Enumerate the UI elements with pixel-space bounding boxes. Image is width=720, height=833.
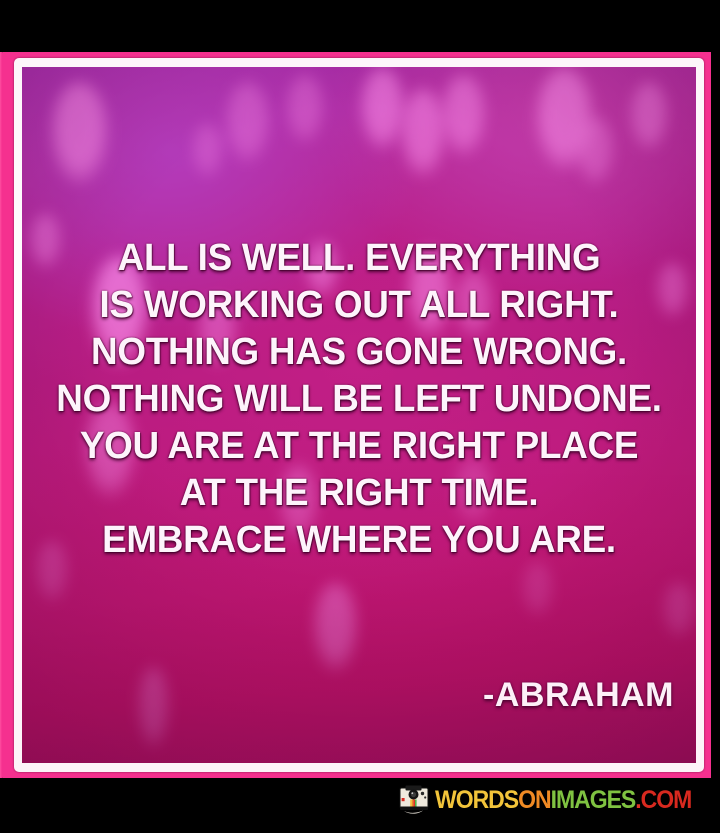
frame-left-edge	[0, 52, 2, 778]
white-mat-border: ALL IS WELL. EVERYTHING IS WORKING OUT A…	[14, 58, 704, 772]
watermark-text: WORDSONIMAGES.COM	[435, 788, 691, 813]
quote-attribution: -ABRAHAM	[483, 676, 674, 715]
screenshot-canvas: ALL IS WELL. EVERYTHING IS WORKING OUT A…	[0, 0, 720, 833]
watermark-segment: ON	[519, 786, 551, 814]
watermark-segment: IMAGES	[551, 786, 636, 814]
watermark-segment: COM	[641, 786, 692, 814]
pink-photo-frame: ALL IS WELL. EVERYTHING IS WORKING OUT A…	[0, 52, 720, 778]
frame-right-edge	[711, 52, 720, 778]
quote-photo: ALL IS WELL. EVERYTHING IS WORKING OUT A…	[22, 67, 696, 763]
bokeh-background	[22, 67, 696, 763]
polaroid-camera-icon	[399, 785, 431, 815]
watermark-segment: WORDS	[435, 786, 518, 814]
site-watermark: WORDSONIMAGES.COM	[399, 783, 714, 817]
